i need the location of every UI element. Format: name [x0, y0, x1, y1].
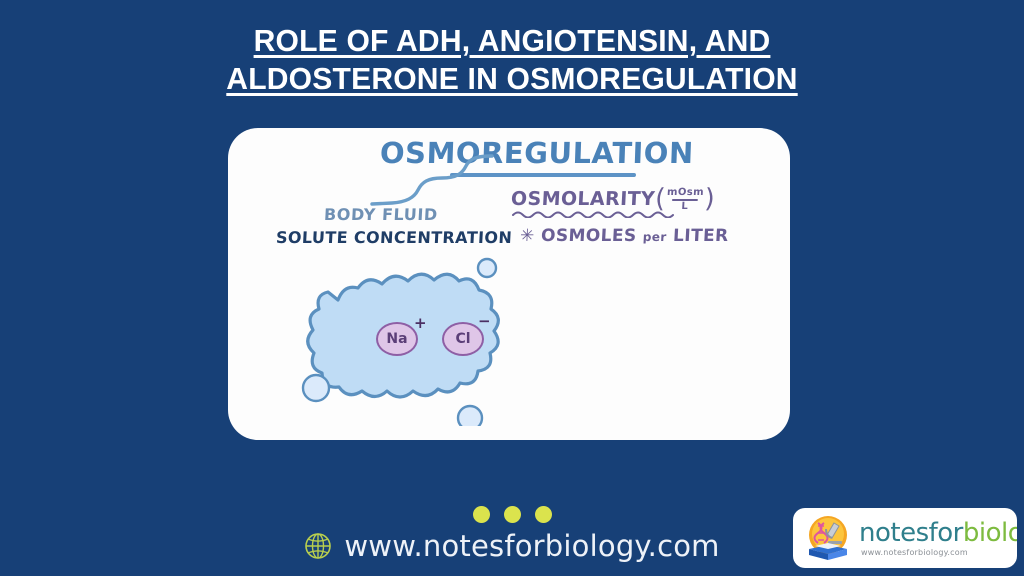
page-title: ROLE OF ADH, ANGIOTENSIN, AND ALDOSTERON… [0, 22, 1024, 98]
logo-text: notesforbiology www.notesforbiology.com [859, 520, 1017, 557]
brace-connector-icon [366, 152, 496, 210]
ion-sodium: Na [376, 322, 418, 356]
osmolarity-unit-fraction: mOsm L [666, 188, 704, 212]
liter-word: LITER [673, 226, 730, 246]
body-fluid-blob-illustration [300, 256, 560, 426]
body-fluid-label: BODY FLUID [324, 205, 439, 224]
page-title-line-2: ALDOSTERONE IN OSMOREGULATION [15, 60, 1008, 98]
solute-concentration-label: SOLUTE CONCENTRATION [276, 228, 513, 247]
unit-numerator: mOsm [667, 188, 704, 199]
dot-3 [535, 506, 552, 523]
dot-1 [473, 506, 490, 523]
paren-close: ) [704, 186, 716, 212]
osmolarity-squiggle-underline [511, 210, 686, 218]
logo-wordmark: notesforbiology [859, 520, 1017, 546]
osmolarity-label-group: OSMOLARITY ( mOsm L ) [510, 186, 715, 212]
brand-logo-badge[interactable]: notesforbiology www.notesforbiology.com [793, 508, 1017, 568]
ion-sodium-charge: + [414, 314, 427, 332]
paren-open: ( [654, 186, 666, 212]
ion-chloride-charge: − [478, 312, 491, 330]
logo-subtitle: www.notesforbiology.com [861, 549, 1017, 557]
logo-word-part-2: biology [963, 518, 1017, 548]
osmolarity-label: OSMOLARITY [510, 188, 655, 210]
illustration-card: OSMOREGULATION BODY FLUID SOLUTE CONCENT… [228, 128, 790, 440]
osmoles-per-liter-label: ✳ OSMOLES per LITER [519, 226, 729, 246]
logo-word-part-1: notesfor [859, 518, 963, 548]
microscope-dna-book-icon [801, 513, 855, 563]
website-url: www.notesforbiology.com [344, 529, 719, 563]
osmoles-word: OSMOLES [540, 226, 637, 246]
star-bullet-icon: ✳ [519, 226, 535, 246]
illustration-content: OSMOREGULATION BODY FLUID SOLUTE CONCENT… [228, 128, 790, 440]
globe-icon [304, 532, 332, 560]
per-word: per [642, 230, 667, 244]
page-title-line-1: ROLE OF ADH, ANGIOTENSIN, AND [15, 22, 1008, 60]
dot-2 [504, 506, 521, 523]
